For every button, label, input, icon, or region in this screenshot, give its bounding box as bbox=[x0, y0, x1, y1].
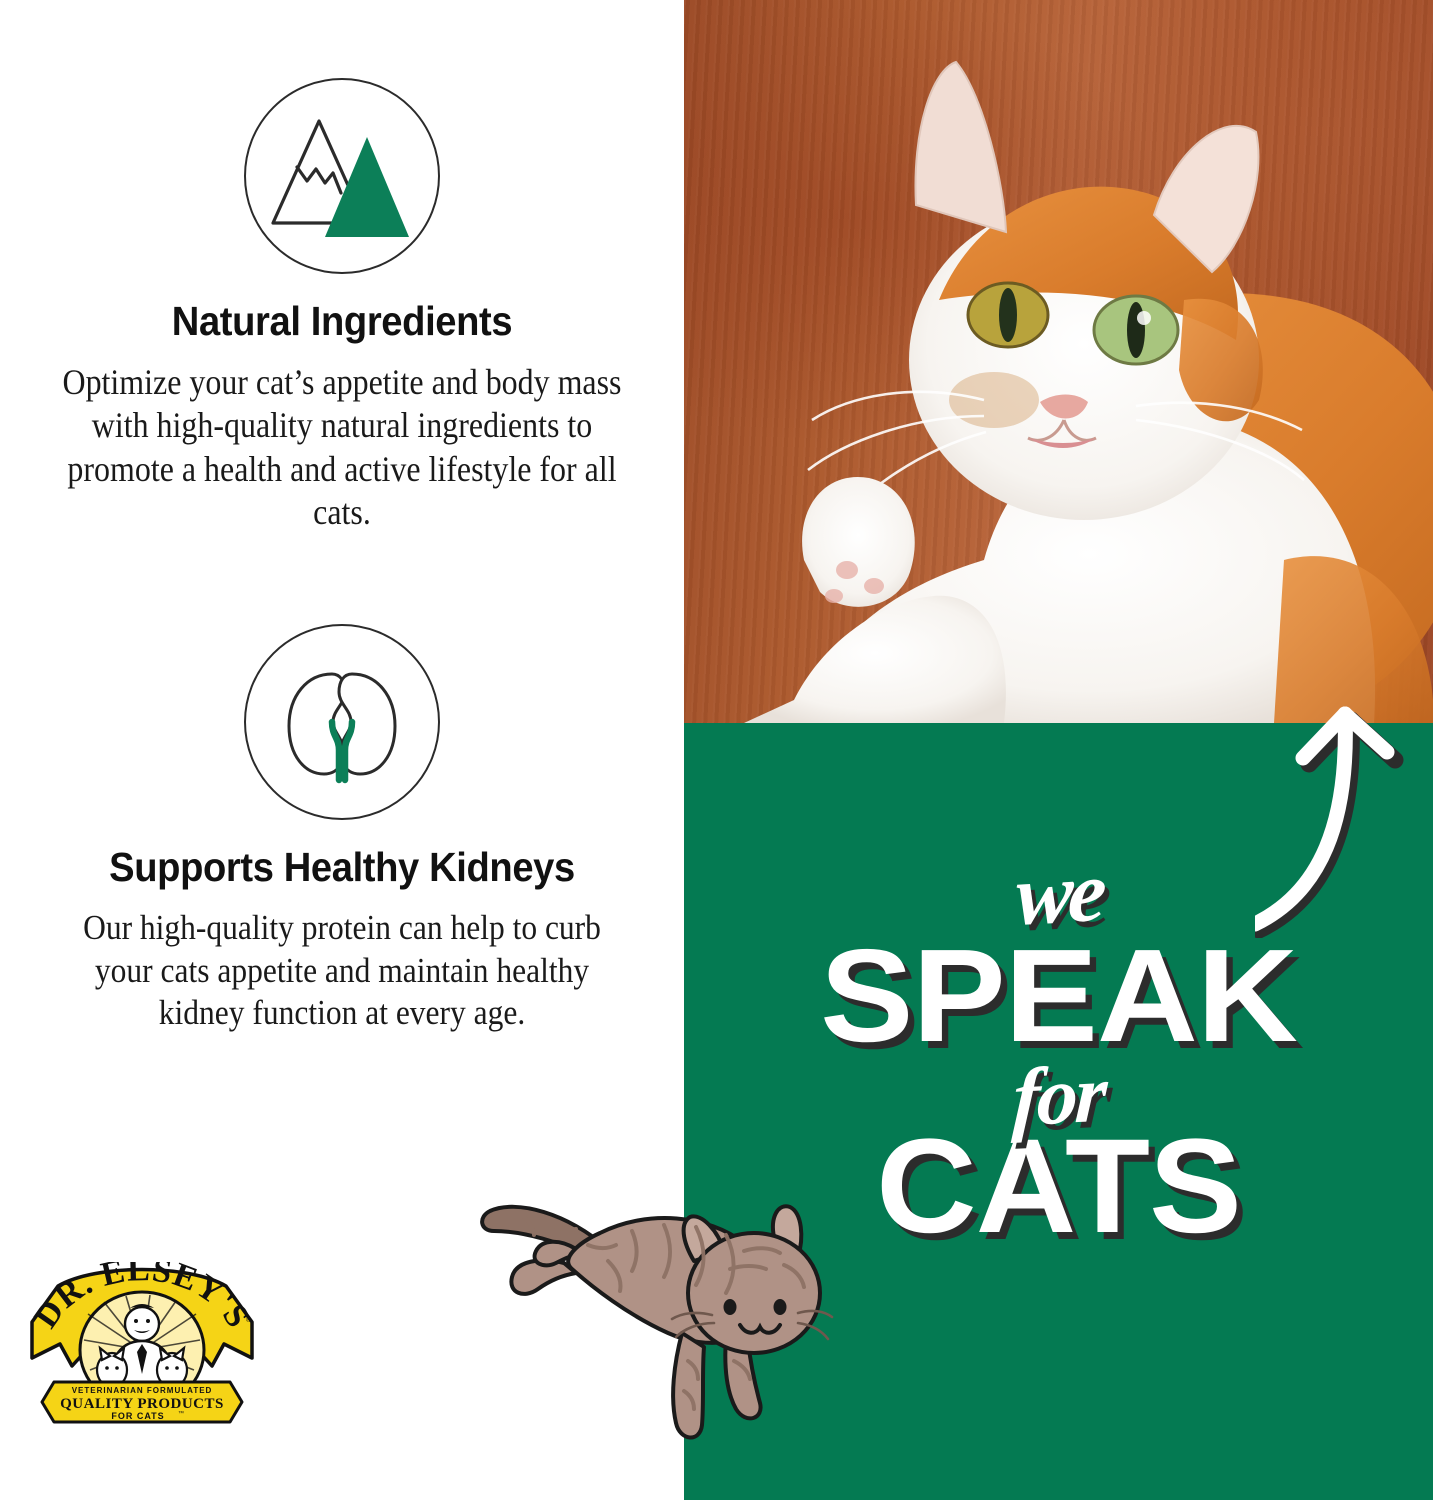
logo-tagline-top: VETERINARIAN FORMULATED bbox=[72, 1386, 213, 1395]
logo-trademark: ™ bbox=[178, 1410, 184, 1417]
logo-tagline-mid: QUALITY PRODUCTS bbox=[60, 1396, 224, 1412]
feature-title: Supports Healthy Kidneys bbox=[24, 844, 660, 891]
feature-natural-ingredients: Natural Ingredients Optimize your cat’s … bbox=[0, 78, 684, 534]
feature-description: Optimize your cat’s appetite and body ma… bbox=[54, 361, 630, 534]
feature-description: Our high-quality protein can help to cur… bbox=[72, 907, 612, 1035]
hero-cat-photo bbox=[684, 0, 1433, 723]
mountain-icon bbox=[244, 78, 440, 274]
feature-healthy-kidneys: Supports Healthy Kidneys Our high-qualit… bbox=[0, 624, 684, 1035]
curved-arrow-icon bbox=[1255, 668, 1415, 938]
leaping-tabby-cat-illustration bbox=[468, 1165, 878, 1455]
brand-logo: DR. ELSEY'S ® VETERINARIAN FORMULATED QU… bbox=[26, 1262, 258, 1426]
logo-tagline-bottom: FOR CATS bbox=[111, 1411, 164, 1421]
registered-mark: ® bbox=[246, 1316, 252, 1324]
kidneys-icon bbox=[244, 624, 440, 820]
feature-title: Natural Ingredients bbox=[24, 298, 660, 345]
